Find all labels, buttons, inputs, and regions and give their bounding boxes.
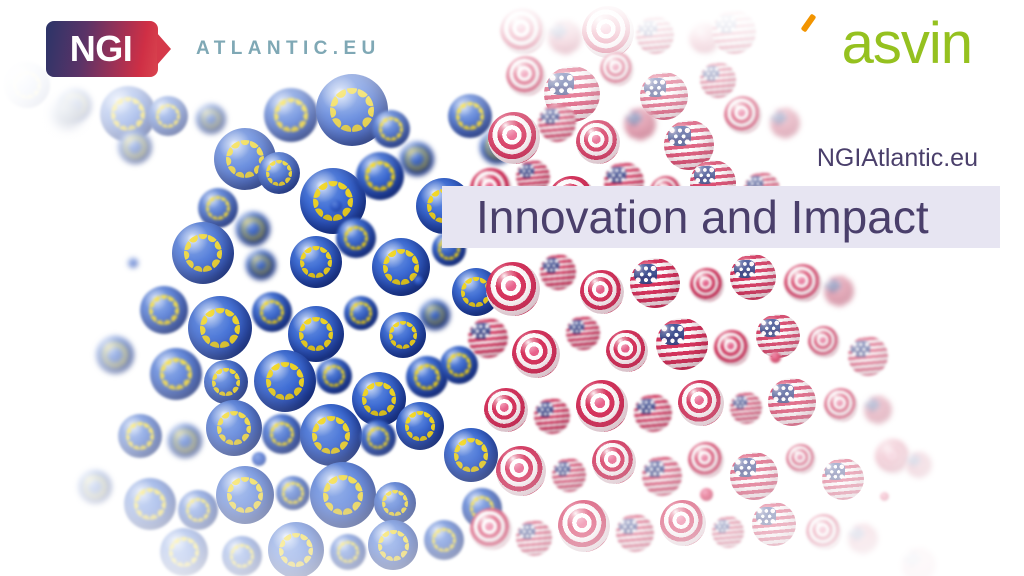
- flag-sphere: [500, 8, 546, 54]
- flag-sphere: [246, 250, 276, 280]
- flag-sphere: [600, 52, 634, 86]
- flag-sphere: [712, 516, 744, 548]
- flag-sphere: [470, 508, 512, 550]
- flag-sphere: [756, 314, 800, 358]
- flag-sphere: [420, 300, 450, 330]
- title-band: Innovation and Impact: [442, 186, 1000, 248]
- flag-sphere: [786, 444, 816, 474]
- presentation-slide: NGI ATLANTIC.EU asvin NGIAtlantic.eu Inn…: [0, 0, 1024, 576]
- ngi-chevron-icon: [157, 33, 171, 65]
- flag-sphere: [222, 536, 262, 576]
- flag-sphere: [52, 98, 82, 128]
- flag-sphere: [730, 452, 778, 500]
- flag-sphere: [372, 110, 410, 148]
- flag-sphere: [128, 258, 138, 268]
- flag-sphere: [552, 458, 586, 492]
- flag-sphere: [196, 104, 226, 134]
- flag-sphere: [592, 440, 636, 484]
- flag-sphere: [290, 236, 342, 288]
- flag-sphere: [360, 420, 396, 456]
- flag-sphere: [824, 388, 858, 422]
- flag-sphere: [770, 108, 800, 138]
- flag-sphere: [178, 490, 218, 530]
- flag-sphere: [330, 534, 366, 570]
- asvin-accent-icon: [801, 13, 817, 32]
- flag-sphere: [188, 296, 252, 360]
- ngi-badge-label: NGI: [70, 31, 135, 67]
- asvin-wordmark: asvin: [842, 12, 972, 76]
- flag-sphere: [534, 398, 570, 434]
- flag-sphere: [204, 360, 248, 404]
- flag-sphere: [148, 96, 188, 136]
- flag-sphere: [396, 402, 444, 450]
- flag-sphere: [344, 296, 378, 330]
- flag-sphere: [630, 258, 680, 308]
- flag-sphere: [540, 254, 576, 290]
- flag-sphere: [548, 20, 582, 54]
- flag-sphere: [506, 56, 546, 96]
- flag-sphere: [276, 476, 310, 510]
- flag-sphere: [254, 350, 316, 412]
- flag-sphere: [730, 254, 776, 300]
- flag-sphere: [714, 330, 750, 366]
- flag-sphere: [444, 428, 498, 482]
- flag-sphere: [118, 130, 152, 164]
- flag-sphere: [468, 318, 508, 358]
- flag-sphere: [486, 262, 540, 316]
- flag-sphere: [880, 492, 889, 501]
- flag-sphere: [236, 212, 270, 246]
- flag-sphere: [848, 524, 878, 554]
- flag-sphere: [656, 318, 708, 370]
- flag-sphere: [252, 292, 292, 332]
- flag-sphere: [770, 352, 781, 363]
- flag-sphere: [808, 326, 840, 358]
- flag-sphere: [616, 514, 654, 552]
- flag-sphere: [660, 500, 706, 546]
- flag-sphere: [150, 348, 202, 400]
- flag-sphere: [822, 458, 864, 500]
- flag-sphere: [118, 414, 162, 458]
- flag-sphere: [440, 346, 478, 384]
- flag-sphere: [712, 10, 756, 54]
- flag-sphere: [688, 442, 724, 478]
- page-title: Innovation and Impact: [442, 194, 929, 240]
- flag-sphere: [624, 108, 656, 140]
- flag-sphere: [724, 96, 762, 134]
- flag-sphere: [700, 62, 736, 98]
- flag-sphere: [368, 520, 418, 570]
- flag-sphere: [124, 478, 176, 530]
- flag-sphere: [160, 528, 208, 576]
- flag-sphere: [380, 312, 426, 358]
- atlantic-wordmark: ATLANTIC.EU: [196, 38, 381, 60]
- flag-sphere: [258, 152, 300, 194]
- flag-sphere: [636, 16, 674, 54]
- flag-sphere: [906, 452, 932, 478]
- flag-sphere: [864, 396, 892, 424]
- flag-sphere: [262, 414, 302, 454]
- flag-sphere: [634, 394, 672, 432]
- flag-sphere: [96, 336, 134, 374]
- flag-sphere: [316, 358, 352, 394]
- flag-sphere: [168, 424, 202, 458]
- flag-sphere: [752, 502, 796, 546]
- flag-sphere: [806, 514, 842, 550]
- flag-sphere: [558, 500, 610, 552]
- flag-sphere: [700, 488, 713, 501]
- flag-sphere: [496, 446, 546, 496]
- flag-sphere: [576, 380, 628, 432]
- flag-sphere: [252, 452, 266, 466]
- flag-sphere: [642, 456, 682, 496]
- flag-sphere: [784, 264, 822, 302]
- flag-sphere: [78, 470, 112, 504]
- flag-sphere: [484, 388, 528, 432]
- flag-sphere: [4, 62, 50, 108]
- flag-sphere: [414, 276, 423, 285]
- flag-sphere: [268, 522, 324, 576]
- flag-sphere: [516, 520, 552, 556]
- ngi-atlantic-logo[interactable]: NGI ATLANTIC.EU: [46, 21, 381, 77]
- flag-sphere: [140, 286, 188, 334]
- flag-sphere: [374, 482, 416, 524]
- flag-sphere: [768, 378, 816, 426]
- eyebrow-text: NGIAtlantic.eu: [817, 145, 978, 173]
- flag-sphere: [336, 218, 376, 258]
- flag-sphere: [824, 276, 854, 306]
- flag-sphere: [372, 238, 430, 296]
- flag-sphere: [512, 330, 560, 378]
- flag-sphere: [448, 94, 492, 138]
- flag-sphere: [488, 112, 540, 164]
- flag-sphere: [424, 520, 464, 560]
- flag-sphere: [902, 548, 936, 576]
- flag-sphere: [566, 316, 600, 350]
- flag-sphere: [580, 270, 624, 314]
- flag-sphere: [206, 400, 262, 456]
- flag-sphere: [678, 380, 724, 426]
- flag-sphere: [730, 392, 762, 424]
- flag-sphere: [172, 222, 234, 284]
- ngi-badge: NGI: [46, 21, 158, 77]
- flag-sphere: [400, 142, 434, 176]
- flag-sphere: [310, 462, 376, 528]
- flag-sphere: [538, 104, 576, 142]
- flag-sphere: [330, 200, 342, 212]
- flag-sphere: [300, 404, 362, 466]
- flag-sphere: [606, 330, 648, 372]
- flag-sphere: [582, 6, 634, 58]
- flag-sphere: [848, 336, 888, 376]
- asvin-logo[interactable]: asvin: [752, 12, 972, 76]
- flag-sphere: [216, 466, 274, 524]
- flag-sphere: [690, 268, 724, 302]
- flag-spheres-background: [0, 0, 1024, 576]
- flag-sphere: [876, 440, 910, 474]
- flag-sphere: [356, 152, 404, 200]
- flag-sphere: [576, 120, 620, 164]
- flag-sphere: [264, 88, 318, 142]
